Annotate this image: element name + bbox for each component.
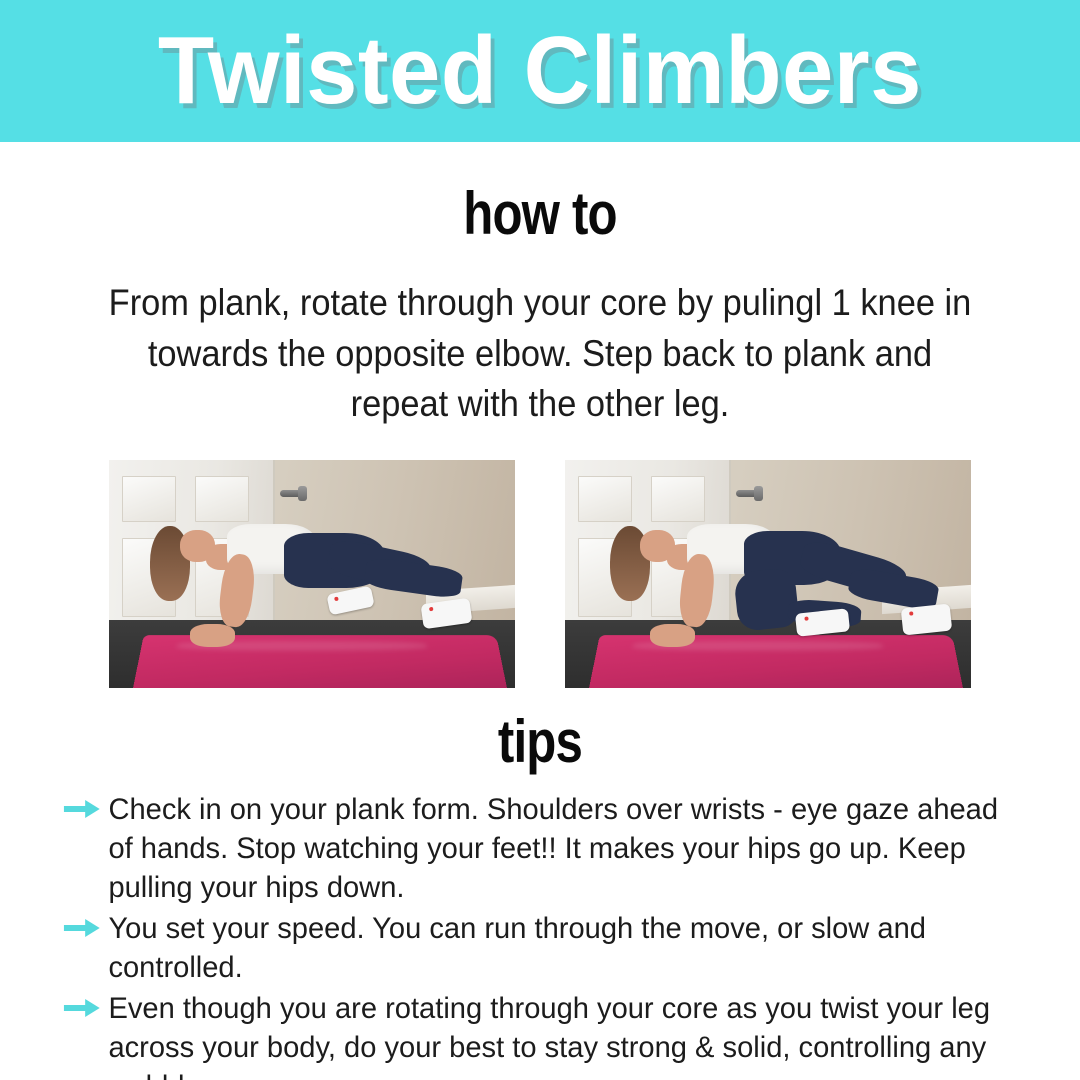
main-content: how to From plank, rotate through your c… xyxy=(0,142,1080,1080)
arrow-right-icon xyxy=(64,998,101,1018)
tip-text: Check in on your plank form. Shoulders o… xyxy=(108,793,998,904)
plank-start-position-photo xyxy=(109,460,515,688)
page-title: Twisted Climbers xyxy=(158,23,922,119)
arrow-right-icon xyxy=(64,918,101,938)
tip-text: You set your speed. You can run through … xyxy=(108,912,926,984)
tip-item: Check in on your plank form. Shoulders o… xyxy=(58,790,1020,907)
tip-item: You set your speed. You can run through … xyxy=(58,909,1020,987)
header-banner: Twisted Climbers xyxy=(0,0,1080,142)
howto-heading: how to xyxy=(97,184,983,244)
photo-row xyxy=(0,460,1080,688)
tip-item: Even though you are rotating through you… xyxy=(58,989,1020,1080)
arrow-right-icon xyxy=(64,799,101,819)
howto-body-text: From plank, rotate through your core by … xyxy=(108,278,973,430)
tips-list: Check in on your plank form. Shoulders o… xyxy=(0,790,1080,1080)
figure-plank xyxy=(109,460,515,688)
tips-heading: tips xyxy=(97,712,983,772)
figure-knee-to-elbow xyxy=(565,460,971,688)
infographic-page: Twisted Climbers how to From plank, rota… xyxy=(0,0,1080,1080)
knee-to-elbow-position-photo xyxy=(565,460,971,688)
tip-text: Even though you are rotating through you… xyxy=(108,992,990,1080)
